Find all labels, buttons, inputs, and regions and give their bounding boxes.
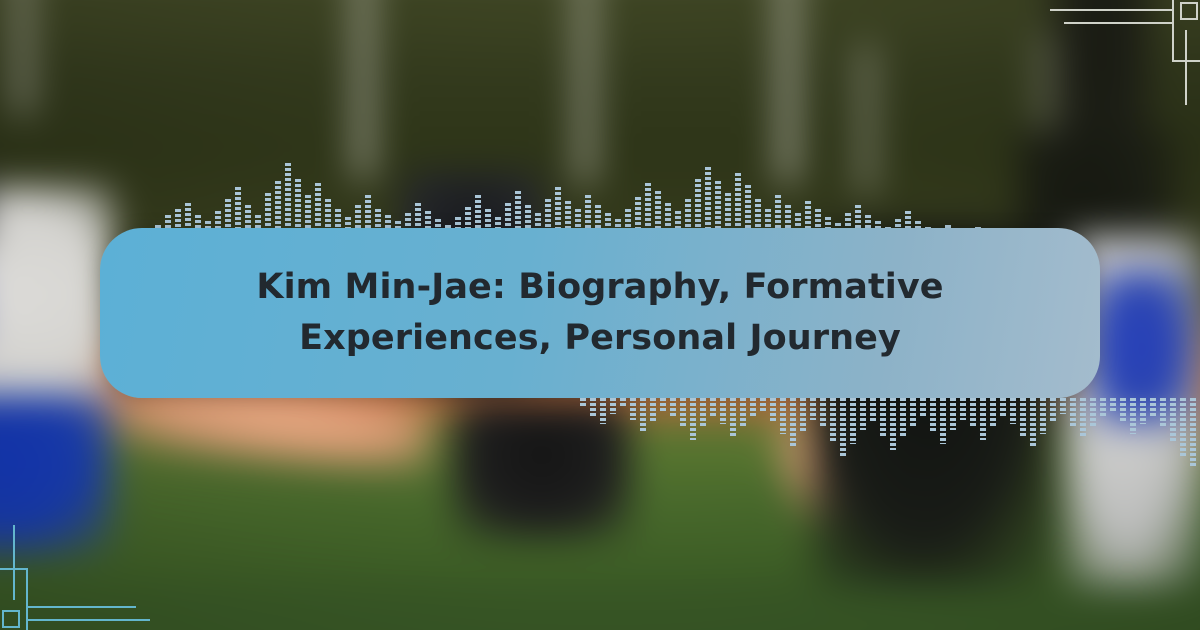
waveform-bar (980, 398, 986, 440)
ornament-line (1185, 30, 1187, 105)
title-card: Kim Min-Jae: Biography, Formative Experi… (100, 228, 1100, 398)
ornament-line (1050, 9, 1172, 11)
waveform-bar (900, 398, 906, 438)
waveform-bar (920, 398, 926, 418)
waveform-bar (790, 398, 796, 446)
waveform-bar (1030, 398, 1036, 448)
waveform-bar (1140, 398, 1146, 424)
waveform-bar (1020, 398, 1026, 436)
waveform-bar (750, 398, 756, 418)
waveform-bar (1190, 398, 1196, 468)
waveform-bar (590, 398, 596, 416)
waveform-bar (580, 398, 586, 408)
waveform-bar (870, 398, 876, 422)
waveform-bar (610, 398, 616, 414)
waveform-bar (910, 398, 916, 426)
title-line-2: Experiences, Personal Journey (299, 318, 901, 358)
waveform-bar (890, 398, 896, 450)
waveform-bar (850, 398, 856, 444)
waveform-bar (760, 398, 766, 412)
page-title: Kim Min-Jae: Biography, Formative Experi… (196, 262, 1003, 364)
ornament-line (1064, 22, 1172, 24)
ornament-line (26, 568, 28, 630)
waveform-bar (1040, 398, 1046, 434)
waveform-bar (1130, 398, 1136, 434)
waveform-bar (1170, 398, 1176, 442)
waveform-bar (860, 398, 866, 430)
waveform-bar (800, 398, 806, 432)
waveform-bar (1100, 398, 1106, 418)
waveform-bar (650, 398, 656, 422)
corner-ornament-bottom-left (0, 525, 160, 630)
title-line-1: Kim Min-Jae: Biography, Formative (256, 267, 943, 307)
waveform-bar (970, 398, 976, 428)
waveform-bar (960, 398, 966, 420)
waveform-bar (720, 398, 726, 424)
waveform-bar (1110, 398, 1116, 412)
waveform-bar (1050, 398, 1056, 422)
waveform-bar (730, 398, 736, 436)
waveform-bar (680, 398, 686, 428)
waveform-bar (830, 398, 836, 442)
ornament-line (13, 525, 15, 600)
waveform-bar (690, 398, 696, 440)
waveform-bar (740, 398, 746, 428)
waveform-bar (1080, 398, 1086, 438)
waveform-bar (1180, 398, 1186, 456)
waveform-bar (710, 398, 716, 416)
waveform-bar (600, 398, 606, 424)
waveform-bar (1090, 398, 1096, 428)
waveform-bar (670, 398, 676, 418)
waveform-bar (620, 398, 626, 408)
waveform-bar (1000, 398, 1006, 416)
waveform-bar (1010, 398, 1016, 424)
ornament-line (28, 619, 150, 621)
waveform-bar (930, 398, 936, 432)
waveform-bar (1150, 398, 1156, 416)
waveform-bar (1060, 398, 1066, 414)
waveform-bar (940, 398, 946, 444)
waveform-bar (880, 398, 886, 436)
waveform-bar (1160, 398, 1166, 428)
waveform-bar (810, 398, 816, 420)
corner-ornament-top-right (1040, 0, 1200, 105)
waveform-bar (1120, 398, 1126, 422)
waveform-bar (990, 398, 996, 426)
waveform-bar (950, 398, 956, 430)
ornament-square (1180, 2, 1198, 20)
audio-waveform-bottom (580, 398, 1200, 468)
ornament-line (1172, 0, 1174, 62)
waveform-bar (660, 398, 666, 412)
ornament-line (28, 606, 136, 608)
waveform-bar (700, 398, 706, 426)
waveform-bar (1070, 398, 1076, 426)
waveform-bar (840, 398, 846, 458)
waveform-bar (770, 398, 776, 422)
ornament-square (2, 610, 20, 628)
waveform-bar (640, 398, 646, 432)
waveform-bar (780, 398, 786, 434)
waveform-bar (820, 398, 826, 428)
waveform-bar (630, 398, 636, 420)
poster-canvas: Kim Min-Jae: Biography, Formative Experi… (0, 0, 1200, 630)
